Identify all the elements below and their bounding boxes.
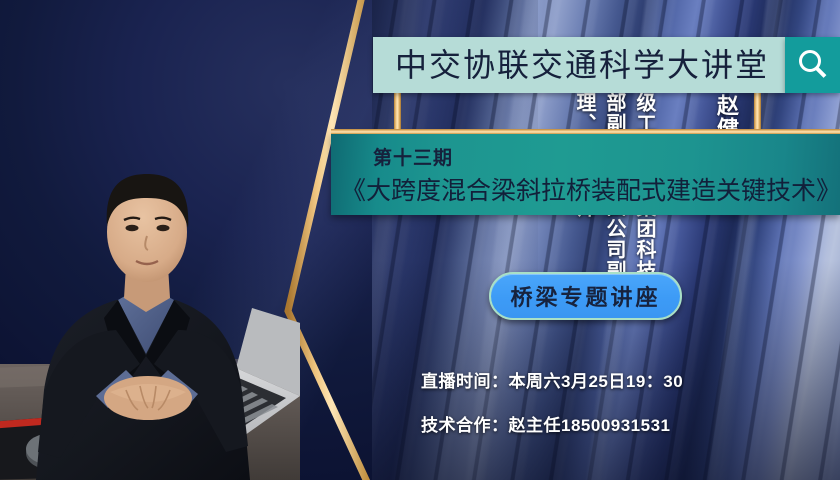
search-icon <box>796 48 830 82</box>
speaker-portrait <box>0 140 300 480</box>
banner-gold-edge <box>331 129 840 134</box>
session-banner: 第十三期 《大跨度混合梁斜拉桥装配式建造关键技术》 <box>331 133 840 215</box>
brand-title-bar: 中交协联交通科学大讲堂 <box>373 37 785 93</box>
session-topic: 《大跨度混合梁斜拉桥装配式建造关键技术》 <box>341 171 840 207</box>
broadcast-time: 直播时间：本周六3月25日19：30 <box>421 367 683 392</box>
episode-label: 第十三期 <box>373 143 453 170</box>
page-title: 中交协联交通科学大讲堂 <box>373 49 769 81</box>
search-button[interactable] <box>785 37 840 93</box>
contact-info: 技术合作：赵主任18500931531 <box>421 411 671 436</box>
category-badge-label: 桥梁专题讲座 <box>510 280 660 312</box>
webinar-poster: 总经理、总工程师 信息部副部长兼四公司副 正高级工程师、集团科技 赵健 中交协联… <box>0 0 840 480</box>
category-badge[interactable]: 桥梁专题讲座 <box>489 272 682 320</box>
